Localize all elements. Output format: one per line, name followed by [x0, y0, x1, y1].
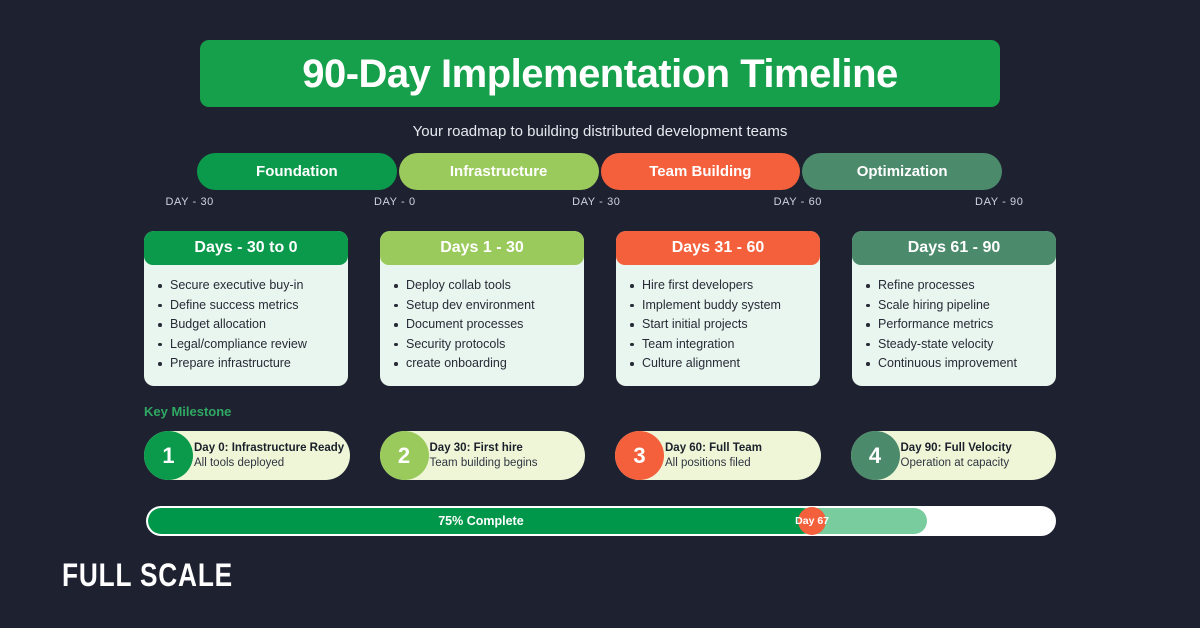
key-milestone-heading: Key Milestone	[144, 404, 231, 419]
phase-card-list: Secure executive buy-in Define success m…	[144, 265, 348, 374]
page-title: 90-Day Implementation Timeline	[302, 54, 898, 94]
list-item: Performance metrics	[878, 315, 1050, 335]
list-item: Define success metrics	[170, 296, 342, 316]
milestone-item-3[interactable]: 3 Day 60: Full Team All positions filed	[615, 431, 821, 480]
phase-card-team-building: Days 31 - 60 Hire first developers Imple…	[616, 231, 820, 386]
milestone-row: 1 Day 0: Infrastructure Ready All tools …	[144, 431, 1056, 480]
list-item: Steady-state velocity	[878, 335, 1050, 355]
phase-card-list: Deploy collab tools Setup dev environmen…	[380, 265, 584, 374]
milestone-item-2[interactable]: 2 Day 30: First hire Team building begin…	[380, 431, 586, 480]
list-item: Prepare infrastructure	[170, 354, 342, 374]
list-item: Refine processes	[878, 276, 1050, 296]
list-item: Secure executive buy-in	[170, 276, 342, 296]
day-tick: DAY - 0	[374, 196, 416, 208]
milestone-item-1[interactable]: 1 Day 0: Infrastructure Ready All tools …	[144, 431, 350, 480]
milestone-title: Day 30: First hire	[430, 441, 538, 455]
phase-pill-optimization[interactable]: Optimization	[802, 153, 1002, 190]
phase-pill-label: Optimization	[857, 163, 948, 180]
day-tick: DAY - 90	[975, 196, 1023, 208]
phase-pill-label: Infrastructure	[450, 163, 548, 180]
phase-card-list: Hire first developers Implement buddy sy…	[616, 265, 820, 374]
list-item: Start initial projects	[642, 315, 814, 335]
milestone-text: Day 60: Full Team All positions filed	[665, 441, 762, 470]
list-item: Team integration	[642, 335, 814, 355]
phase-card-heading: Days 31 - 60	[616, 231, 820, 265]
phase-card-foundation: Days - 30 to 0 Secure executive buy-in D…	[144, 231, 348, 386]
list-item: Hire first developers	[642, 276, 814, 296]
milestone-title: Day 60: Full Team	[665, 441, 762, 455]
list-item: Legal/compliance review	[170, 335, 342, 355]
phase-card-infrastructure: Days 1 - 30 Deploy collab tools Setup de…	[380, 231, 584, 386]
infographic-canvas: 90-Day Implementation Timeline Your road…	[0, 0, 1200, 628]
list-item: Scale hiring pipeline	[878, 296, 1050, 316]
list-item: create onboarding	[406, 354, 578, 374]
milestone-subtitle: All positions filed	[665, 456, 762, 470]
milestone-number-badge: 4	[851, 431, 900, 480]
milestone-text: Day 90: Full Velocity Operation at capac…	[901, 441, 1012, 470]
list-item: Budget allocation	[170, 315, 342, 335]
milestone-number-badge: 3	[615, 431, 664, 480]
phase-cards-row: Days - 30 to 0 Secure executive buy-in D…	[144, 231, 1056, 386]
progress-track	[148, 508, 1054, 534]
progress-fill	[148, 508, 814, 534]
phase-card-heading: Days 61 - 90	[852, 231, 1056, 265]
list-item: Security protocols	[406, 335, 578, 355]
day-tick: DAY - 30	[572, 196, 620, 208]
day-tick: DAY - 30	[165, 196, 213, 208]
phase-card-heading: Days 1 - 30	[380, 231, 584, 265]
milestone-subtitle: All tools deployed	[194, 456, 344, 470]
milestone-subtitle: Operation at capacity	[901, 456, 1012, 470]
list-item: Setup dev environment	[406, 296, 578, 316]
phase-card-list: Refine processes Scale hiring pipeline P…	[852, 265, 1056, 374]
milestone-title: Day 90: Full Velocity	[901, 441, 1012, 455]
day-axis: DAY - 30 DAY - 0 DAY - 30 DAY - 60 DAY -…	[140, 196, 1060, 214]
progress-bar[interactable]: 75% Complete Day 67	[146, 506, 1056, 536]
brand-logo: FULL SCALE	[62, 557, 233, 594]
list-item: Implement buddy system	[642, 296, 814, 316]
page-subtitle: Your roadmap to building distributed dev…	[0, 123, 1200, 140]
milestone-text: Day 30: First hire Team building begins	[430, 441, 538, 470]
day-tick: DAY - 60	[774, 196, 822, 208]
list-item: Document processes	[406, 315, 578, 335]
list-item: Deploy collab tools	[406, 276, 578, 296]
milestone-number-badge: 1	[144, 431, 193, 480]
phase-pill-team-building[interactable]: Team Building	[601, 153, 801, 190]
phase-pill-foundation[interactable]: Foundation	[197, 153, 397, 190]
milestone-number-badge: 2	[380, 431, 429, 480]
list-item: Culture alignment	[642, 354, 814, 374]
phase-pill-infrastructure[interactable]: Infrastructure	[399, 153, 599, 190]
title-banner: 90-Day Implementation Timeline	[200, 40, 1000, 107]
phase-card-optimization: Days 61 - 90 Refine processes Scale hiri…	[852, 231, 1056, 386]
phase-card-heading: Days - 30 to 0	[144, 231, 348, 265]
list-item: Continuous improvement	[878, 354, 1050, 374]
phase-bar: Foundation Infrastructure Team Building …	[197, 153, 1002, 190]
phase-pill-label: Foundation	[256, 163, 338, 180]
current-day-marker[interactable]	[798, 507, 826, 535]
milestone-title: Day 0: Infrastructure Ready	[194, 441, 344, 455]
milestone-item-4[interactable]: 4 Day 90: Full Velocity Operation at cap…	[851, 431, 1057, 480]
phase-pill-label: Team Building	[649, 163, 751, 180]
milestone-subtitle: Team building begins	[430, 456, 538, 470]
milestone-text: Day 0: Infrastructure Ready All tools de…	[194, 441, 344, 470]
